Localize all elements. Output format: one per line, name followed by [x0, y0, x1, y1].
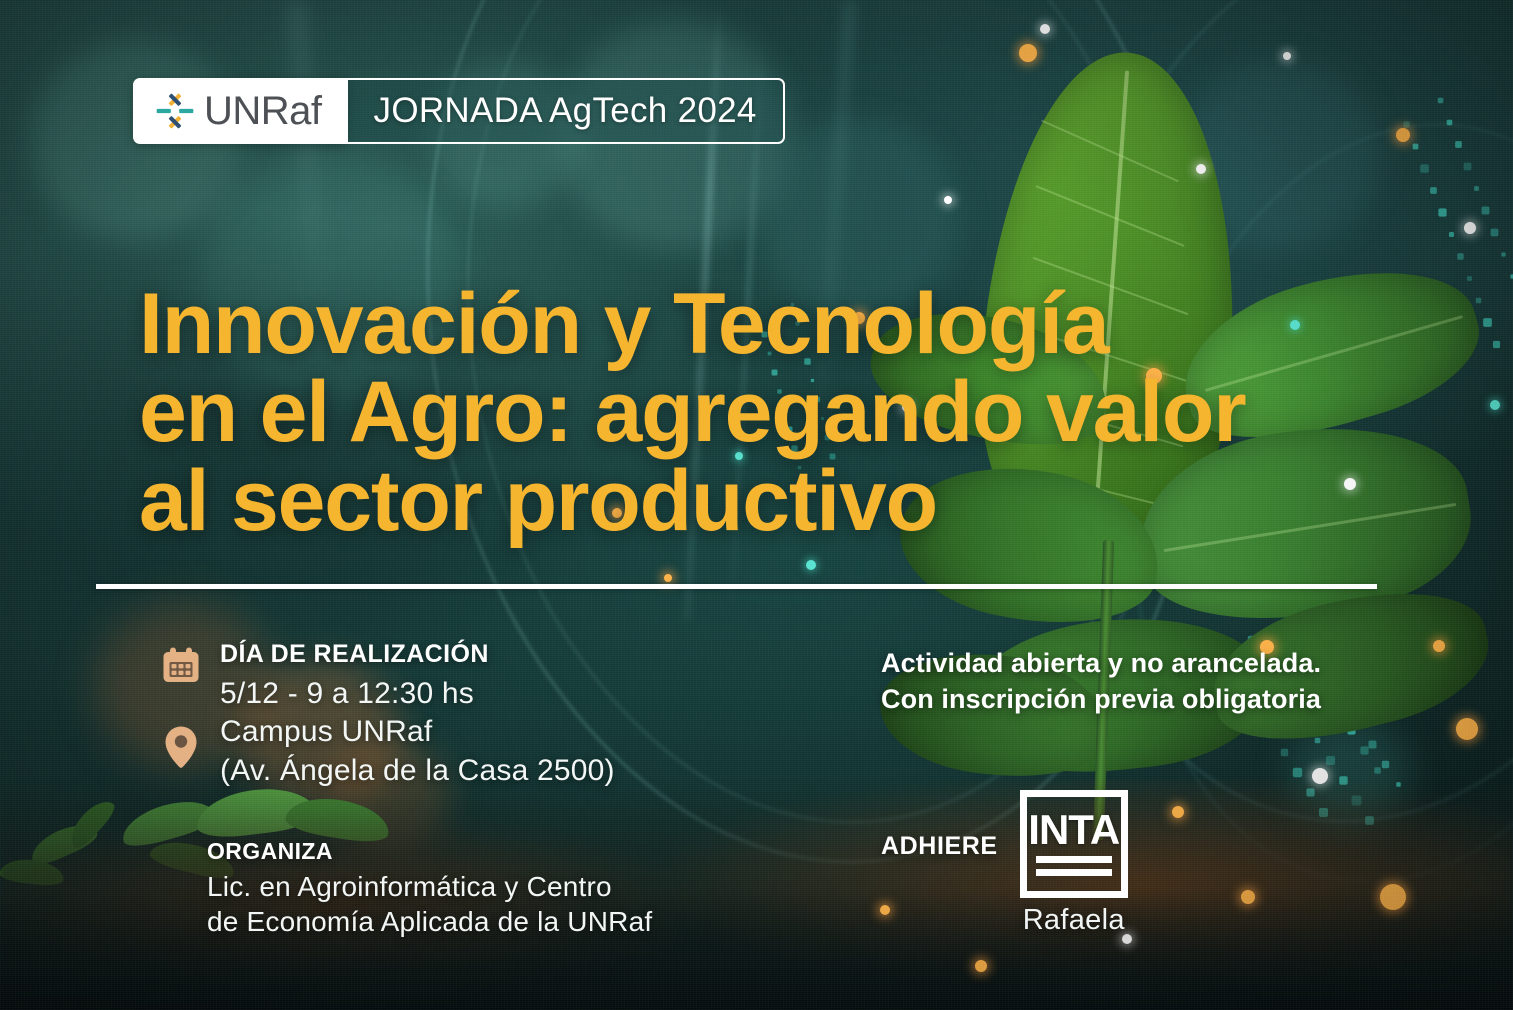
adhiere-label: ADHIERE: [881, 832, 998, 895]
inta-location-label: Rafaela: [1023, 904, 1125, 937]
map-pin-icon: [162, 725, 200, 776]
organiza-line-2: de Economía Aplicada de la UNRaf: [207, 904, 847, 939]
headline-line-2: en el Agro: agregando valor: [139, 368, 1419, 457]
event-badge: JORNADA AgTech 2024: [348, 78, 785, 144]
date-kicker: DÍA DE REALIZACIÓN: [220, 640, 800, 669]
poster-root: UNRaf JORNADA AgTech 2024 Innovación y T…: [0, 0, 1513, 1010]
detail-icons-column: [160, 640, 202, 776]
inta-logo-bars: [1036, 856, 1112, 876]
date-value: 5/12 - 9 a 12:30 hs: [220, 675, 800, 713]
inta-logo-icon: INTA Rafaela: [1020, 790, 1128, 937]
page-title: Innovación y Tecnología en el Agro: agre…: [139, 280, 1419, 546]
headline-line-3: al sector productivo: [139, 457, 1419, 546]
unraf-asterisk-icon: [155, 91, 195, 131]
notice-line-2: Con inscripción previa obligatoria: [881, 682, 1421, 718]
notice-line-1: Actividad abierta y no arancelada.: [881, 646, 1421, 682]
venue-name: Campus UNRaf: [220, 713, 800, 751]
organiza-line-1: Lic. en Agroinformática y Centro: [207, 869, 847, 904]
organiza-block: ORGANIZA Lic. en Agroinformática y Centr…: [207, 838, 847, 940]
adhiere-block: ADHIERE INTA Rafaela: [881, 790, 1128, 937]
brand-badge-bar: UNRaf JORNADA AgTech 2024: [133, 78, 785, 144]
headline-line-1: Innovación y Tecnología: [139, 280, 1419, 369]
venue-address: (Av. Ángela de la Casa 2500): [220, 752, 800, 790]
calendar-icon: [161, 646, 201, 691]
inta-wordmark: INTA: [1028, 811, 1119, 850]
unraf-logo-chip: UNRaf: [133, 78, 348, 144]
event-badge-label: JORNADA AgTech 2024: [374, 91, 757, 131]
event-details-block: DÍA DE REALIZACIÓN 5/12 - 9 a 12:30 hs C…: [160, 640, 800, 790]
unraf-wordmark: UNRaf: [204, 91, 322, 131]
section-divider: [96, 584, 1377, 589]
organiza-kicker: ORGANIZA: [207, 838, 847, 865]
registration-notice: Actividad abierta y no arancelada. Con i…: [881, 646, 1421, 718]
